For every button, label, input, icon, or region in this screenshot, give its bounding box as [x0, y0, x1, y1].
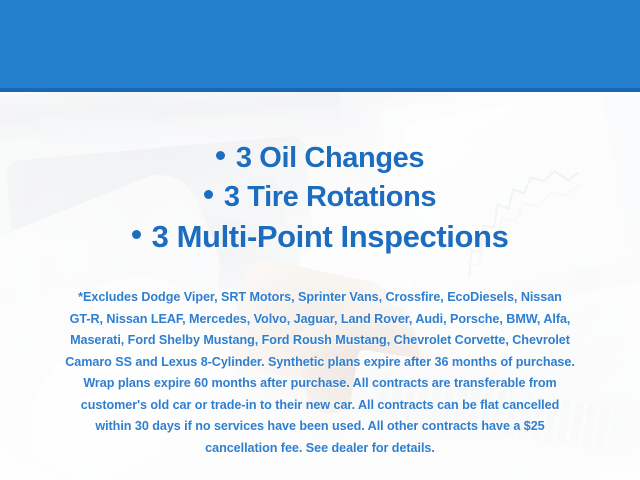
disclaimer-line: GT-R, Nissan LEAF, Mercedes, Volvo, Jagu…	[22, 309, 618, 331]
bullet-dot-icon	[132, 230, 141, 239]
disclaimer-line: within 30 days if no services have been …	[22, 416, 618, 438]
benefit-item-tire-rotations: 3 Tire Rotations	[0, 178, 640, 217]
benefit-label: 3 Tire Rotations	[224, 181, 436, 213]
disclaimer-line: Wrap plans expire 60 months after purcha…	[22, 373, 618, 395]
benefit-label: 3 Multi-Point Inspections	[152, 219, 509, 254]
disclaimer-line: customer's old car or trade-in to their …	[22, 395, 618, 417]
disclaimer-text: *Excludes Dodge Viper, SRT Motors, Sprin…	[22, 287, 618, 459]
benefit-item-multi-point-inspections: 3 Multi-Point Inspections	[0, 217, 640, 256]
bullet-dot-icon	[216, 151, 225, 160]
disclaimer-line: *Excludes Dodge Viper, SRT Motors, Sprin…	[22, 287, 618, 309]
benefits-list: 3 Oil Changes 3 Tire Rotations 3 Multi-P…	[0, 139, 640, 256]
disclaimer-line: Maserati, Ford Shelby Mustang, Ford Rous…	[22, 330, 618, 352]
bullet-dot-icon	[204, 190, 213, 199]
benefit-item-oil-changes: 3 Oil Changes	[0, 139, 640, 178]
benefit-label: 3 Oil Changes	[236, 142, 424, 174]
disclaimer-line: cancellation fee. See dealer for details…	[22, 438, 618, 460]
header-banner	[0, 0, 640, 88]
disclaimer-line: Camaro SS and Lexus 8-Cylinder. Syntheti…	[22, 352, 618, 374]
header-bottom-rule	[0, 88, 640, 92]
extracare-package-promo-card: ExtraCare Package* 3 Oil Changes 3 Tire …	[0, 0, 640, 480]
